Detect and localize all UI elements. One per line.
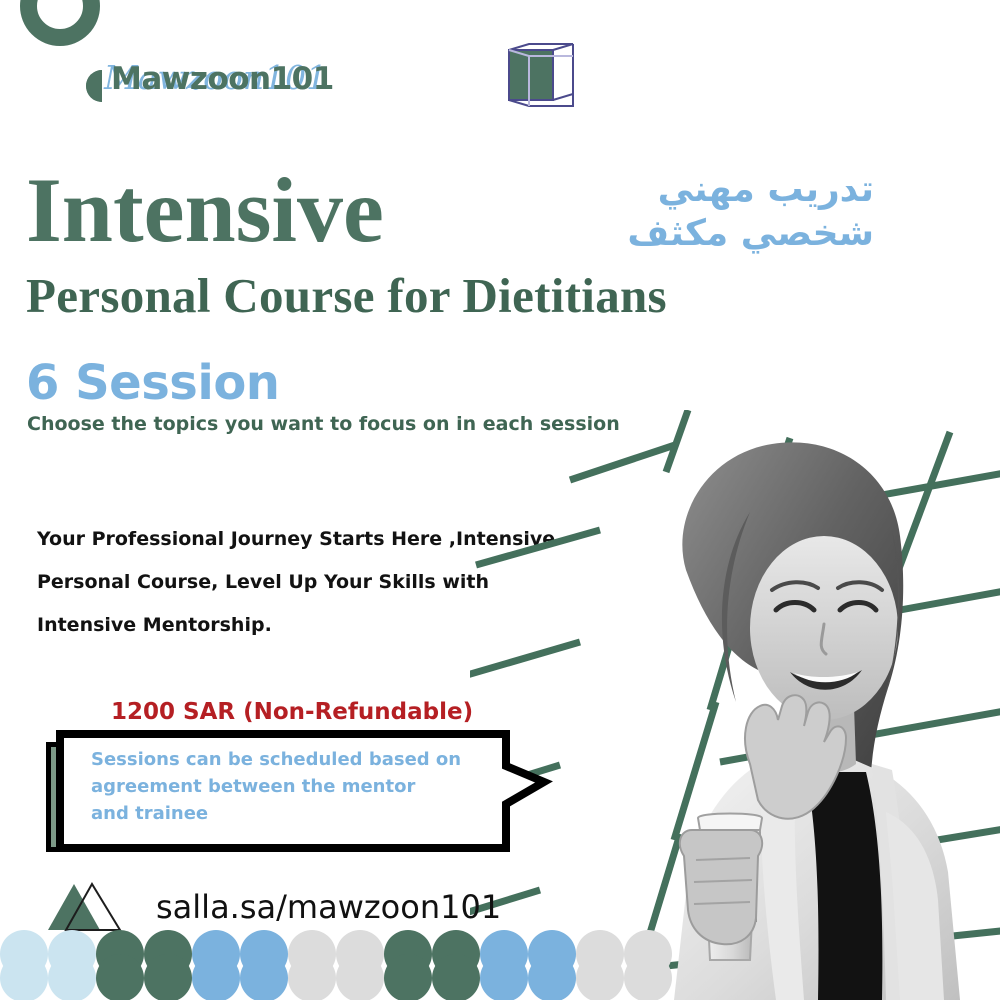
triangle-mark-icon <box>48 882 132 934</box>
dot-pattern-band <box>0 928 1000 1000</box>
half-circle-icon <box>86 70 102 102</box>
headline-arabic-line1: تدريب مهني <box>574 168 874 212</box>
headline-block: Intensive تدريب مهني شخصي مكثف <box>26 160 926 270</box>
callout-line1: Sessions can be scheduled based on <box>91 746 491 773</box>
instructor-photo-illustration <box>600 420 1000 1000</box>
page-title: Intensive <box>26 160 384 260</box>
headline-arabic-line2: شخصي مكثف <box>574 212 874 256</box>
dot-pattern-cell <box>240 954 288 1000</box>
dot-pattern-cell <box>96 954 144 1000</box>
dot-pattern-cell <box>144 954 192 1000</box>
callout-line2: agreement between the mentor <box>91 773 491 800</box>
callout-line3: and trainee <box>91 800 491 827</box>
dot-pattern-cell <box>336 954 384 1000</box>
price-label: 1200 SAR (Non-Refundable) <box>111 699 473 725</box>
dot-pattern-cell <box>0 954 48 1000</box>
poster-canvas: Mawzoon101 Mawzoon101 Intensive تدريب مه… <box>0 0 1000 1000</box>
store-url-text[interactable]: salla.sa/mawzoon101 <box>156 888 501 926</box>
ring-icon <box>20 0 100 46</box>
headline-arabic: تدريب مهني شخصي مكثف <box>574 168 874 256</box>
dot-pattern-cell <box>480 954 528 1000</box>
dot-pattern-cell <box>528 954 576 1000</box>
dot-pattern-cell <box>432 954 480 1000</box>
dot-pattern-cell <box>576 954 624 1000</box>
dot-pattern-cell <box>192 954 240 1000</box>
headline-subtitle: Personal Course for Dietitians <box>26 268 667 324</box>
session-count: 6 Session <box>26 356 279 410</box>
logo-wordmark: Mawzoon101 <box>111 61 334 97</box>
dot-pattern-cell <box>624 954 672 1000</box>
dot-pattern-cell <box>288 954 336 1000</box>
cube-icon <box>505 42 585 118</box>
dot-pattern-cell <box>48 954 96 1000</box>
scheduling-callout: Sessions can be scheduled based on agree… <box>46 730 566 860</box>
instructor-photo <box>600 420 1000 1000</box>
brand-logo: Mawzoon101 Mawzoon101 <box>86 56 356 118</box>
callout-text: Sessions can be scheduled based on agree… <box>91 746 491 827</box>
dot-pattern-cell <box>384 954 432 1000</box>
